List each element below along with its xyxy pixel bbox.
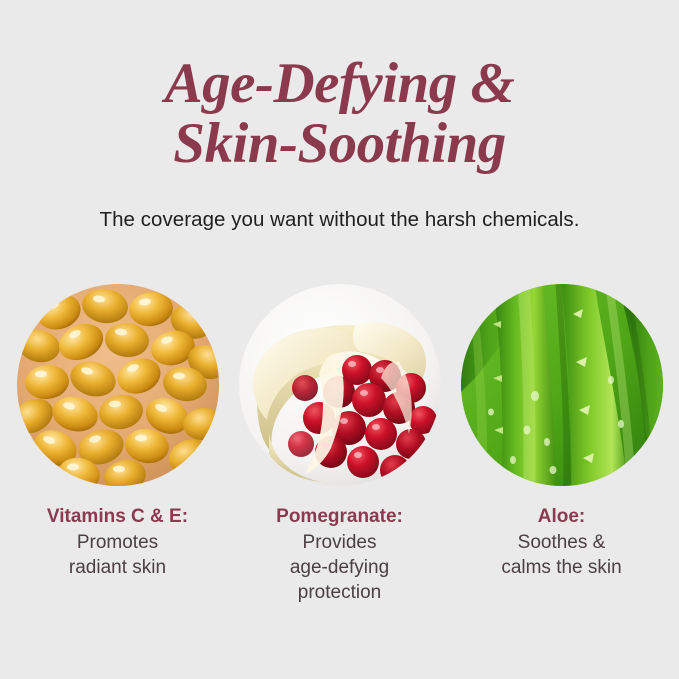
ingredient-description: Soothes & calms the skin — [454, 530, 669, 580]
ingredient-aloe: Aloe: Soothes & calms the skin — [461, 284, 663, 605]
headline-line-1: Age-Defying & — [0, 54, 679, 114]
ingredient-list: Vitamins C & E: Promotes radiant skin — [0, 284, 679, 605]
ingredient-title: Vitamins C & E: — [10, 504, 225, 530]
ingredient-description: Provides age-defying protection — [232, 530, 447, 605]
pomegranate-photo — [239, 284, 441, 486]
description-line: radiant skin — [10, 555, 225, 580]
ingredient-caption: Aloe: Soothes & calms the skin — [454, 504, 669, 580]
ingredient-vitamins: Vitamins C & E: Promotes radiant skin — [17, 284, 219, 605]
page-headline: Age-Defying & Skin-Soothing — [0, 54, 679, 174]
vitamin-capsules-photo — [17, 284, 219, 486]
description-line: Promotes — [10, 530, 225, 555]
ingredient-pomegranate: Pomegranate: Provides age-defying protec… — [239, 284, 441, 605]
ingredient-description: Promotes radiant skin — [10, 530, 225, 580]
ingredient-caption: Pomegranate: Provides age-defying protec… — [232, 504, 447, 605]
ingredient-caption: Vitamins C & E: Promotes radiant skin — [10, 504, 225, 580]
description-line: calms the skin — [454, 555, 669, 580]
description-line: Provides — [232, 530, 447, 555]
aloe-photo — [461, 284, 663, 486]
ingredient-title: Aloe: — [454, 504, 669, 530]
description-line: protection — [232, 580, 447, 605]
description-line: Soothes & — [454, 530, 669, 555]
headline-line-2: Skin-Soothing — [0, 114, 679, 174]
description-line: age-defying — [232, 555, 447, 580]
ingredient-benefits-infographic: Age-Defying & Skin-Soothing The coverage… — [0, 0, 679, 679]
ingredient-title: Pomegranate: — [232, 504, 447, 530]
page-subtitle: The coverage you want without the harsh … — [0, 207, 679, 233]
